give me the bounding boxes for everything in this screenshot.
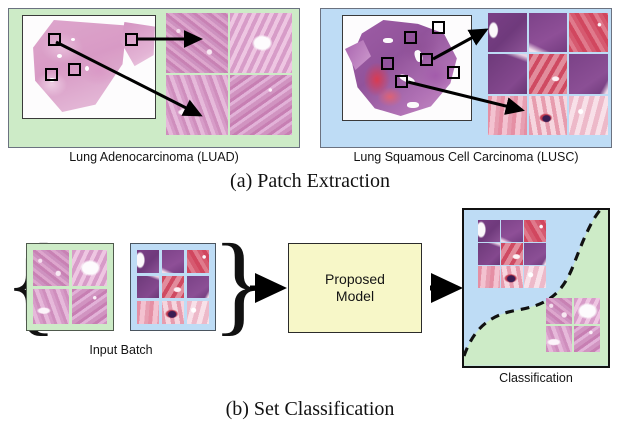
tissue-void	[383, 38, 393, 43]
brace-close: }	[212, 228, 266, 340]
patch-tile	[569, 13, 608, 52]
patch-tile	[72, 250, 108, 286]
tissue-void	[407, 102, 419, 108]
tissue-void	[57, 54, 62, 58]
panel-caption-luad: Lung Adenocarcinoma (LUAD)	[8, 150, 300, 164]
input-set-lusc	[130, 243, 216, 331]
patch-tile	[501, 266, 523, 288]
patch-tile	[166, 13, 228, 73]
patch-tile	[166, 75, 228, 135]
patch-tile	[187, 250, 209, 273]
tissue-void	[71, 38, 75, 41]
roi-marker-lusc-4[interactable]	[420, 53, 433, 66]
input-batch-label: Input Batch	[26, 343, 216, 357]
roi-marker-luad-3[interactable]	[45, 68, 58, 81]
patch-tile	[162, 276, 184, 299]
subcaption-b: (b) Set Classification	[0, 398, 620, 421]
patch-tile	[137, 301, 159, 324]
roi-marker-luad-2[interactable]	[125, 33, 138, 46]
patch-tile	[230, 13, 292, 73]
roi-marker-lusc-5[interactable]	[447, 66, 460, 79]
patch-tile	[501, 243, 523, 265]
classification-label: Classification	[452, 371, 620, 385]
patch-tile	[187, 276, 209, 299]
patch-tile	[187, 301, 209, 324]
patch-tile	[501, 220, 523, 242]
patch-tile	[162, 301, 184, 324]
patch-tile	[478, 243, 500, 265]
patch-tile	[546, 326, 572, 352]
patch-tile	[230, 75, 292, 135]
patch-tile	[529, 54, 568, 93]
patch-tile	[524, 243, 546, 265]
patch-tile	[574, 326, 600, 352]
patch-tile	[33, 289, 69, 325]
patch-tile	[529, 96, 568, 135]
patch-tile	[72, 289, 108, 325]
tissue-region-luad	[31, 20, 135, 112]
patch-tile	[569, 96, 608, 135]
patch-tile	[574, 298, 600, 324]
panel-caption-lusc: Lung Squamous Cell Carcinoma (LUSC)	[320, 150, 612, 164]
classified-cluster-lusc	[478, 220, 546, 288]
patch-tile	[137, 250, 159, 273]
roi-marker-lusc-6[interactable]	[395, 75, 408, 88]
wsi-thumbnail-luad	[22, 15, 156, 119]
roi-marker-lusc-2[interactable]	[432, 21, 445, 34]
patch-tile	[478, 266, 500, 288]
patch-tile	[478, 220, 500, 242]
subcaption-a: (a) Patch Extraction	[0, 170, 620, 193]
patch-grid-lusc	[488, 13, 608, 135]
classification-plot	[462, 208, 610, 368]
patch-tile	[488, 96, 527, 135]
patch-tile	[137, 276, 159, 299]
roi-marker-lusc-1[interactable]	[404, 31, 417, 44]
patch-grid-luad	[166, 13, 292, 135]
roi-marker-luad-1[interactable]	[48, 33, 61, 46]
proposed-model-box: Proposed Model	[288, 243, 422, 333]
input-set-luad	[26, 243, 114, 331]
patch-tile	[524, 220, 546, 242]
patch-tile	[529, 13, 568, 52]
patch-tile	[33, 250, 69, 286]
patch-tile	[569, 54, 608, 93]
classified-cluster-luad	[546, 298, 600, 352]
tissue-void	[85, 66, 89, 71]
patch-tile	[162, 250, 184, 273]
patch-tile	[488, 13, 527, 52]
roi-marker-lusc-3[interactable]	[381, 57, 394, 70]
patch-tile	[546, 298, 572, 324]
roi-marker-luad-4[interactable]	[68, 63, 81, 76]
patch-tile	[488, 54, 527, 93]
patch-tile	[524, 266, 546, 288]
